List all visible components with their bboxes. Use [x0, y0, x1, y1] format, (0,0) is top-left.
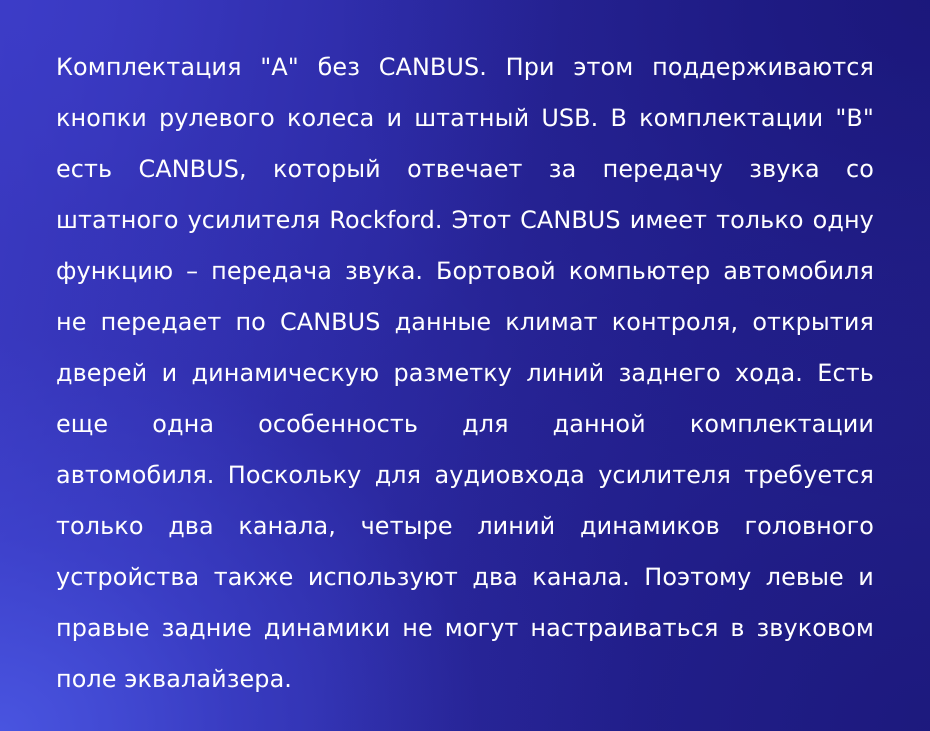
text-word: есть [56, 144, 112, 195]
text-word: задние [162, 603, 252, 654]
text-word: штатный [414, 93, 529, 144]
text-word: канала, [238, 501, 336, 552]
text-word: заднего [619, 348, 721, 399]
paragraph-text-block: Комплектация"А"безCANBUS.Приэтомподдержи… [56, 42, 874, 705]
text-word: Есть [817, 348, 874, 399]
text-word: головного [745, 501, 874, 552]
text-word: функцию [56, 246, 173, 297]
text-word: два [472, 552, 518, 603]
text-word: для [462, 399, 508, 450]
text-word: кнопки [56, 93, 147, 144]
text-word: контроля, [612, 297, 739, 348]
text-word: звука [749, 144, 820, 195]
text-word: Комплектация [56, 42, 242, 93]
text-word: и [858, 552, 874, 603]
text-line: непередаетпоCANBUSданныеклиматконтроля,о… [56, 297, 874, 348]
text-word: CANBUS [280, 297, 381, 348]
text-line: кнопкирулевогоколесаиштатныйUSB.Вкомплек… [56, 93, 874, 144]
text-word: и [162, 348, 178, 399]
text-line: штатногоусилителяRockford.ЭтотCANBUSимее… [56, 195, 874, 246]
text-word: данные [395, 297, 492, 348]
text-word: одна [152, 399, 214, 450]
text-word: компьютер [569, 246, 711, 297]
text-word: данной [553, 399, 646, 450]
text-word: только [56, 501, 144, 552]
text-word: требуется [744, 450, 874, 501]
text-word: "B" [835, 93, 874, 144]
text-word: автомобиля [723, 246, 874, 297]
text-word: в [730, 603, 744, 654]
text-word: усилителя [598, 450, 731, 501]
text-word: настраиваться [530, 603, 718, 654]
text-word: рулевого [159, 93, 275, 144]
text-word: правые [56, 603, 150, 654]
text-word: "А" [260, 42, 299, 93]
text-word: CANBUS [520, 195, 621, 246]
text-word: передает [101, 297, 222, 348]
text-word: передача [211, 246, 332, 297]
text-line: устройстватакжеиспользуютдваканала.Поэто… [56, 552, 874, 603]
text-word: Бортовой [436, 246, 556, 297]
text-word: этом [573, 42, 633, 93]
text-word: имеет [630, 195, 707, 246]
text-word: колеса [287, 93, 374, 144]
slide-canvas: Комплектация"А"безCANBUS.Приэтомподдержи… [0, 0, 930, 731]
text-word: штатного [56, 195, 179, 246]
text-line: поле эквалайзера. [56, 654, 874, 705]
text-line: толькодваканала,четырелинийдинамиковголо… [56, 501, 874, 552]
text-word: разметку [394, 348, 513, 399]
text-word: В [610, 93, 627, 144]
text-word: могут [445, 603, 519, 654]
text-word: комплектации [690, 399, 874, 450]
text-word: динамики [264, 603, 391, 654]
text-line: Комплектация"А"безCANBUS.Приэтомподдержи… [56, 42, 874, 93]
text-word: особенность [258, 399, 418, 450]
text-word: только [716, 195, 804, 246]
text-word: динамическую [192, 348, 380, 399]
text-word: открытия [752, 297, 874, 348]
text-word: используют [308, 552, 458, 603]
text-line: ещеоднаособенностьдляданнойкомплектации [56, 399, 874, 450]
text-word: для [375, 450, 421, 501]
text-word: который [273, 144, 381, 195]
text-word: – [186, 246, 198, 297]
text-word: динамиков [580, 501, 720, 552]
text-word: за [549, 144, 577, 195]
text-word: звуковом [756, 603, 874, 654]
text-line: дверейидинамическуюразметкулинийзаднегох… [56, 348, 874, 399]
text-word: комплектации [639, 93, 823, 144]
text-word: одну [813, 195, 874, 246]
text-word: со [846, 144, 874, 195]
text-word: Rockford. [329, 195, 442, 246]
text-word: не [56, 297, 87, 348]
text-word: без [318, 42, 360, 93]
text-word: усилителя [188, 195, 321, 246]
text-word: по [235, 297, 265, 348]
text-word: автомобиля. [56, 450, 215, 501]
text-line: функцию–передачазвука.Бортовойкомпьютера… [56, 246, 874, 297]
text-word: четыре [361, 501, 453, 552]
text-line: правыезадниединамикинемогутнастраиваться… [56, 603, 874, 654]
text-line: автомобиля.Посколькудляаудиовходаусилите… [56, 450, 874, 501]
text-word: При [506, 42, 555, 93]
text-word: левые [766, 552, 844, 603]
text-word: аудиовхода [434, 450, 584, 501]
text-word: дверей [56, 348, 147, 399]
text-word: канала. [532, 552, 630, 603]
text-word: хода. [735, 348, 803, 399]
text-word: поддерживаются [652, 42, 874, 93]
text-word: CANBUS. [379, 42, 487, 93]
text-word: два [168, 501, 214, 552]
text-word: отвечает [407, 144, 522, 195]
text-word: Поэтому [644, 552, 751, 603]
text-word: Поскольку [228, 450, 362, 501]
text-word: и [386, 93, 402, 144]
text-word: не [402, 603, 433, 654]
text-word: линий [477, 501, 555, 552]
text-word: передачу [603, 144, 723, 195]
text-word: климат [505, 297, 597, 348]
text-word: линий [526, 348, 604, 399]
text-line: естьCANBUS,которыйотвечаетзапередачузвук… [56, 144, 874, 195]
text-word: устройства [56, 552, 199, 603]
text-word: Этот [452, 195, 512, 246]
text-word: звука. [345, 246, 423, 297]
text-word: также [214, 552, 294, 603]
text-word: CANBUS, [138, 144, 246, 195]
text-word: USB. [541, 93, 598, 144]
text-word: еще [56, 399, 108, 450]
